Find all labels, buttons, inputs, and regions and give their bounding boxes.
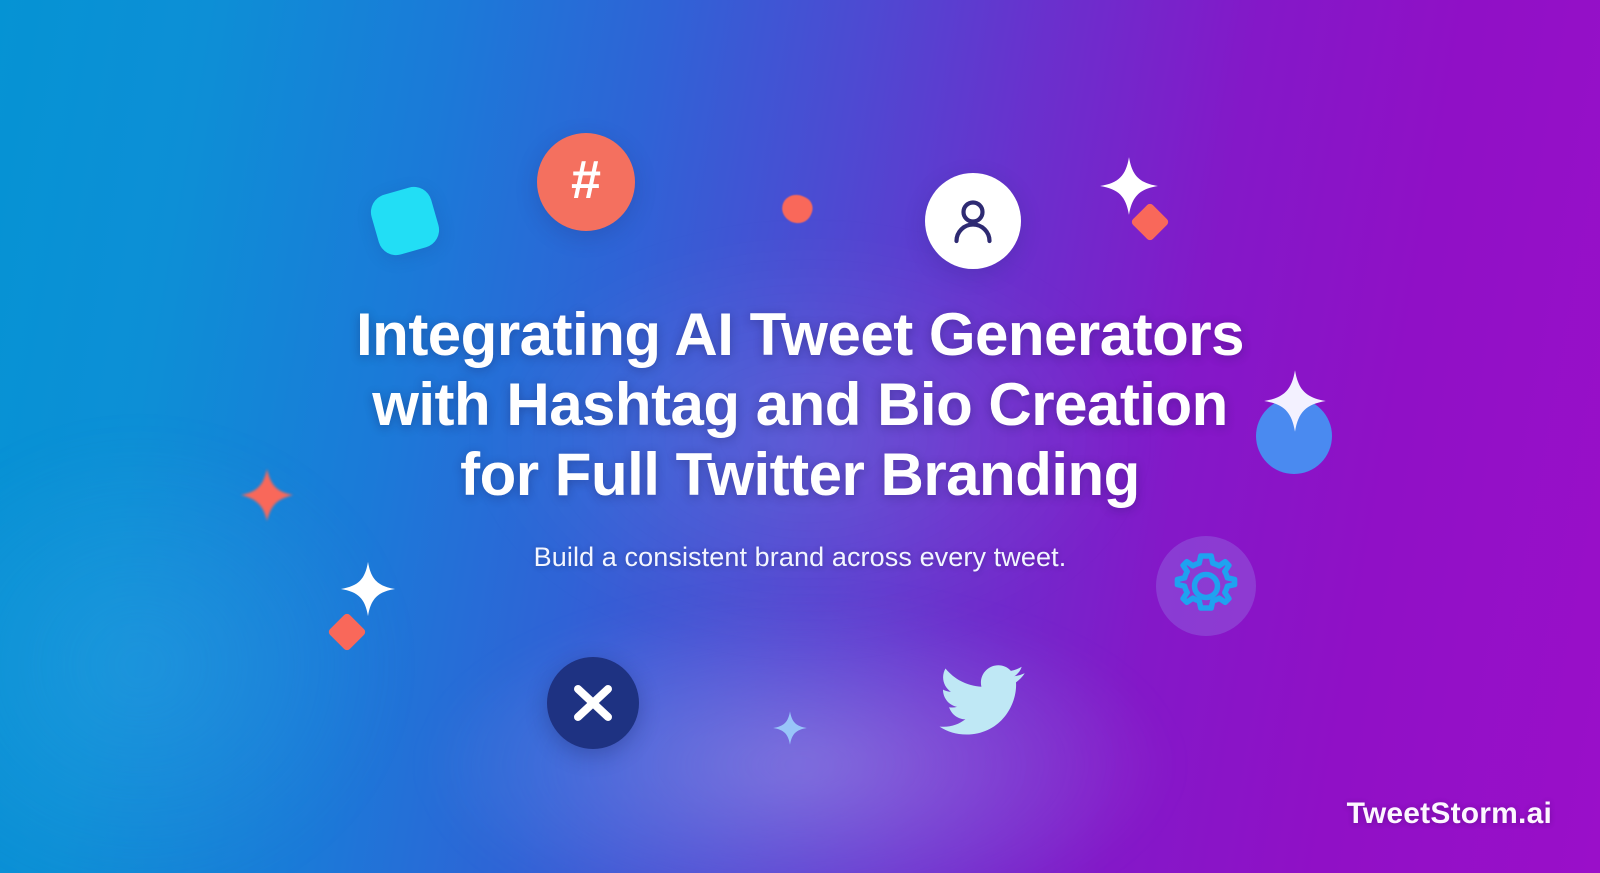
banner-content: Integrating AI Tweet Generators with Has… xyxy=(0,0,1600,873)
page-subtitle: Build a consistent brand across every tw… xyxy=(534,542,1067,573)
headline-line-3: for Full Twitter Branding xyxy=(460,441,1140,508)
headline-line-1: Integrating AI Tweet Generators xyxy=(356,301,1244,368)
headline-line-2: with Hashtag and Bio Creation xyxy=(372,371,1228,438)
brand-wordmark: TweetStorm.ai xyxy=(1347,797,1552,831)
page-title: Integrating AI Tweet Generators with Has… xyxy=(270,300,1330,511)
promo-banner: # xyxy=(0,0,1600,873)
